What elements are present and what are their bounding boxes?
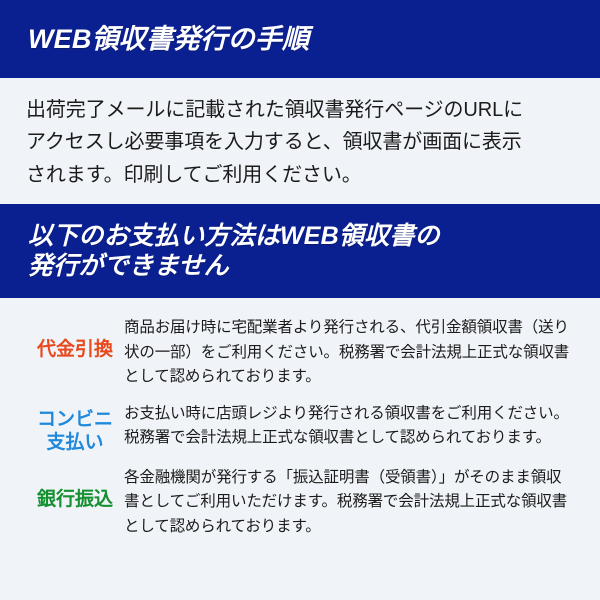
payment-method-row-bank-transfer: 銀行振込 各金融機関が発行する「振込証明書（受領書）」がそのまま領収書としてご利… bbox=[0, 466, 584, 539]
payment-method-label-bank-transfer: 銀行振込 bbox=[0, 466, 124, 511]
payment-method-description-bank-transfer: 各金融機関が発行する「振込証明書（受領書）」がそのまま領収書としてご利用いただけ… bbox=[124, 466, 584, 539]
payment-method-description-cod: 商品お届け時に宅配業者より発行される、代引金額領収書（送り状の一部）をご利用くだ… bbox=[124, 316, 584, 389]
exclusions-heading-band: 以下のお支払い方法はWEB領収書の 発行ができません bbox=[0, 204, 600, 298]
page-title: WEB領収書発行の手順 bbox=[28, 23, 309, 56]
payment-method-label-convenience-store: コンビニ 支払い bbox=[0, 402, 124, 454]
payment-method-label-cod: 代金引換 bbox=[0, 316, 124, 361]
exclusions-title: 以下のお支払い方法はWEB領収書の 発行ができません bbox=[28, 221, 440, 282]
payment-method-row-cod: 代金引換 商品お届け時に宅配業者より発行される、代引金額領収書（送り状の一部）を… bbox=[0, 316, 584, 389]
main-heading-band: WEB領収書発行の手順 bbox=[0, 0, 600, 78]
intro-paragraph: 出荷完了メールに記載された領収書発行ページのURLに アクセスし必要事項を入力す… bbox=[0, 78, 600, 191]
payment-method-description-convenience-store: お支払い時に店頭レジより発行される領収書をご利用ください。税務署で会計法規上正式… bbox=[124, 402, 584, 451]
payment-method-row-convenience-store: コンビニ 支払い お支払い時に店頭レジより発行される領収書をご利用ください。税務… bbox=[0, 402, 584, 454]
receipt-info-page: WEB領収書発行の手順 出荷完了メールに記載された領収書発行ページのURLに ア… bbox=[0, 0, 600, 600]
payment-methods-list: 代金引換 商品お届け時に宅配業者より発行される、代引金額領収書（送り状の一部）を… bbox=[0, 298, 600, 539]
